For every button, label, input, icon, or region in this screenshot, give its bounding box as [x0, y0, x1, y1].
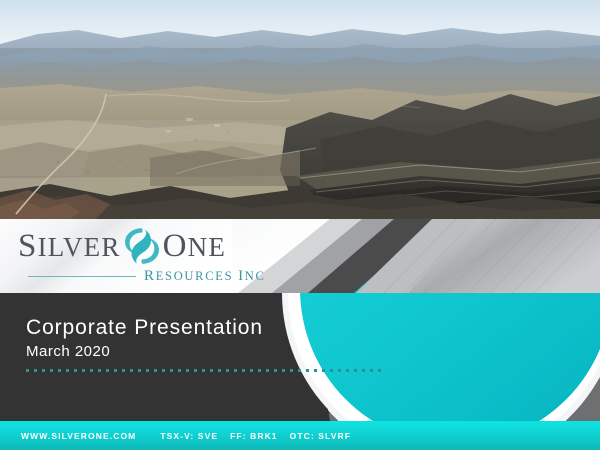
presentation-title: Corporate Presentation [26, 316, 446, 340]
hero-mine-landscape-photo [0, 0, 600, 219]
logo-wordmark-row: SILVER ONE [18, 226, 278, 266]
footer-listing-otc: OTC: SLVRF [290, 431, 351, 441]
footer-website-link[interactable]: WWW.SILVERONE.COM [21, 431, 136, 441]
footer-listing-ff: FF: BRK1 [230, 431, 278, 441]
logo-tagline-row: RESOURCES INC [18, 268, 278, 285]
logo-tagline: RESOURCES INC [144, 268, 266, 285]
title-block: Corporate Presentation March 2020 [26, 316, 446, 360]
footer-listing-tsx: TSX-V: SVE [160, 431, 218, 441]
presentation-title-slide: SILVER ONE RESOURCES INC Corporate Prese… [0, 0, 600, 450]
crescent-mark-artwork [122, 226, 162, 266]
hero-photo-artwork [0, 0, 600, 219]
presentation-date: March 2020 [26, 343, 446, 360]
logo-word-silver: SILVER [18, 230, 121, 263]
title-dotted-divider [26, 369, 381, 372]
logo-word-one: ONE [163, 230, 226, 263]
silver-one-crescent-icon [122, 226, 162, 266]
silver-one-logo[interactable]: SILVER ONE RESOURCES INC [18, 226, 278, 288]
logo-tagline-rule [28, 276, 136, 277]
footer-bar: WWW.SILVERONE.COM TSX-V: SVE FF: BRK1 OT… [0, 421, 600, 450]
footer-content: WWW.SILVERONE.COM TSX-V: SVE FF: BRK1 OT… [0, 421, 600, 450]
